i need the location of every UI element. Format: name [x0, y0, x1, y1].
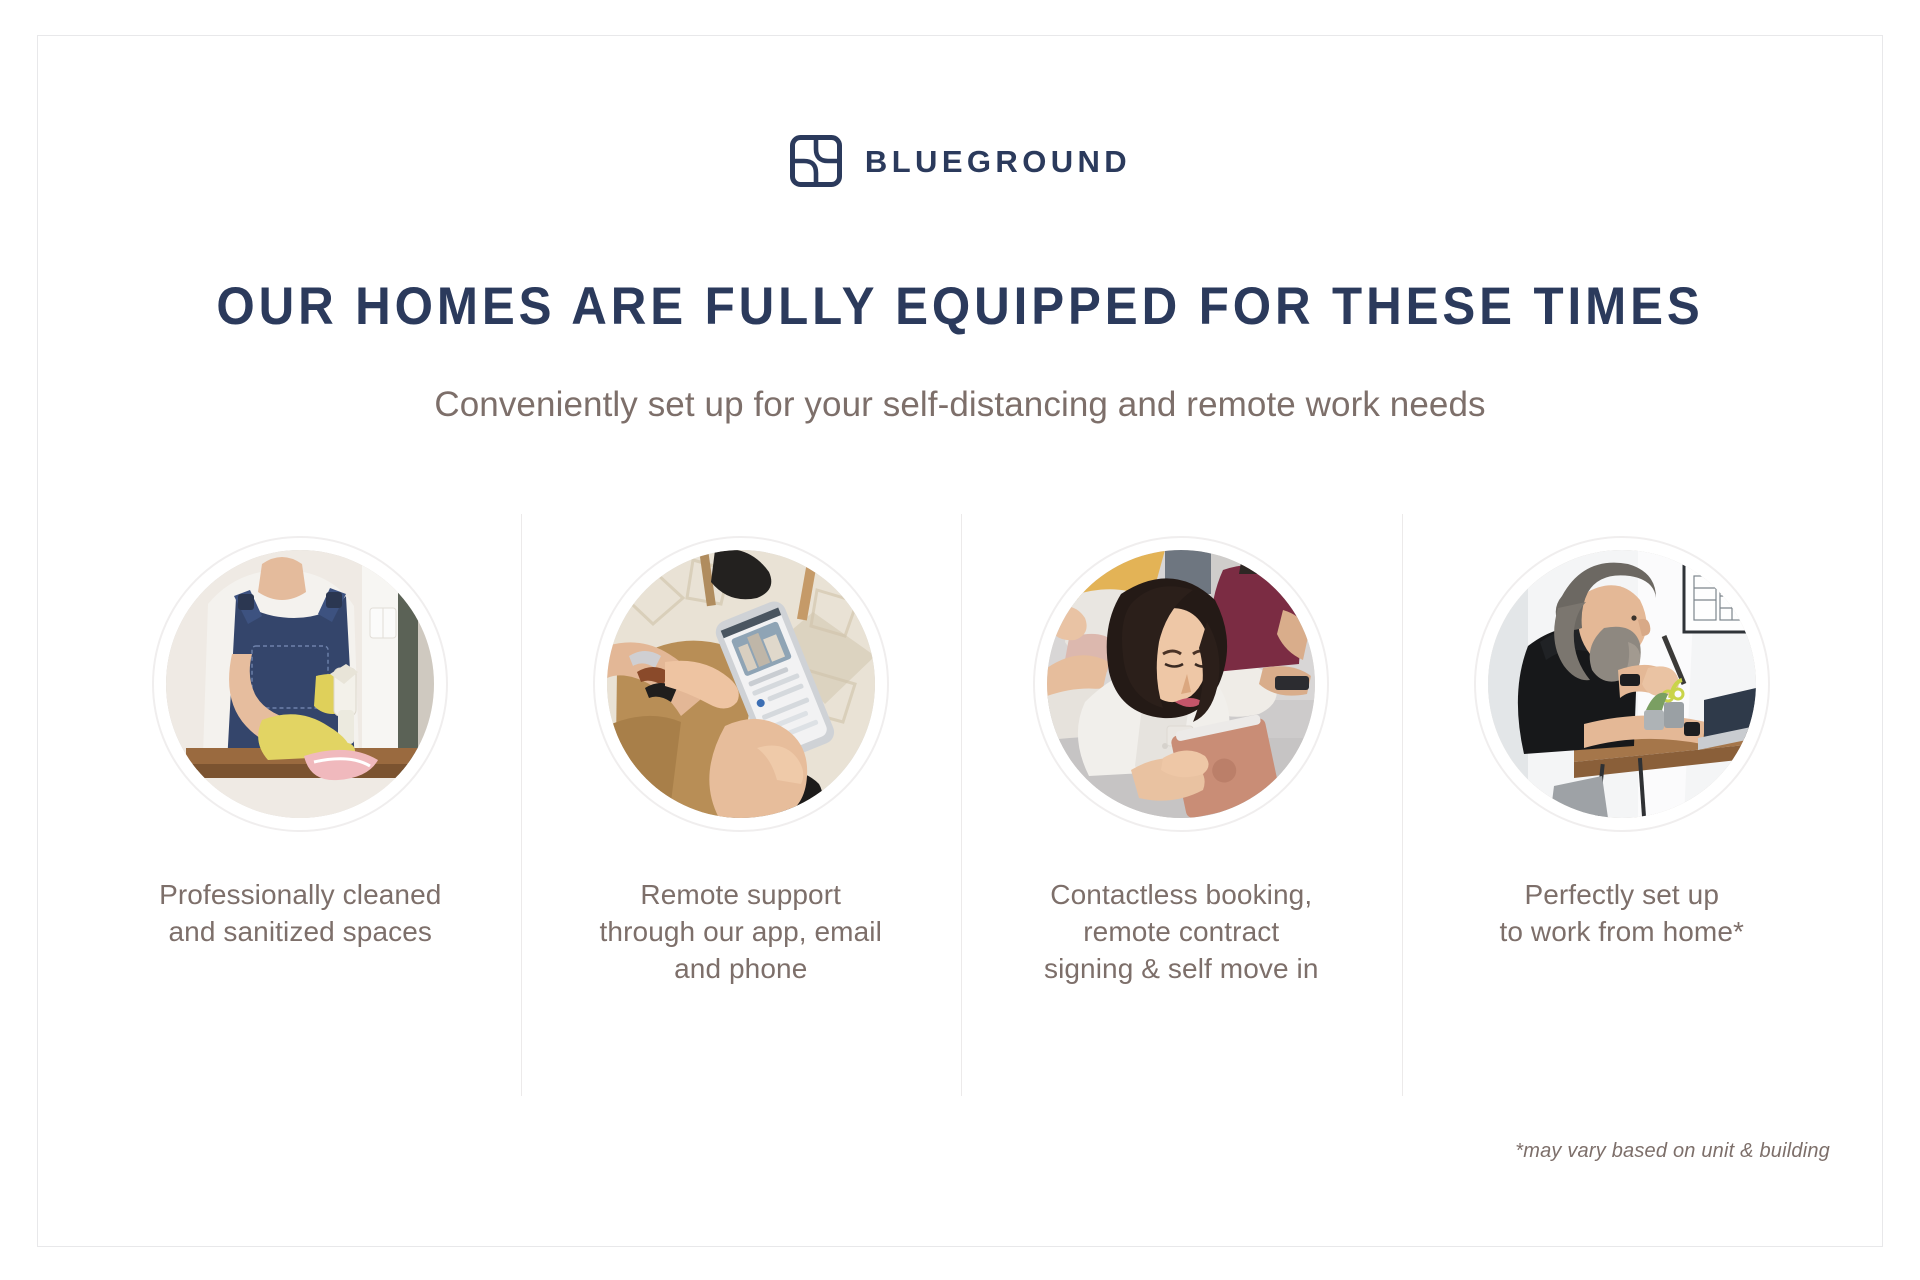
poster-frame: BLUEGROUND OUR HOMES ARE FULLY EQUIPPED …: [37, 35, 1883, 1247]
feature-caption: Remote support through our app, email an…: [600, 876, 882, 988]
photo-phone-support: [607, 550, 875, 818]
photo-ring: [1474, 536, 1770, 832]
photo-ring: [152, 536, 448, 832]
photo-tablet-booking: [1047, 550, 1315, 818]
photo-work-from-home: [1488, 550, 1756, 818]
feature-caption: Professionally cleaned and sanitized spa…: [159, 876, 441, 950]
photo-ring: [1033, 536, 1329, 832]
page-subtitle: Conveniently set up for your self-distan…: [38, 384, 1882, 426]
blueground-logo-icon: [789, 134, 843, 188]
feature-item-contactless-booking: Contactless booking, remote contract sig…: [961, 514, 1402, 1096]
photo-cleaning-person: [166, 550, 434, 818]
feature-grid: Professionally cleaned and sanitized spa…: [80, 514, 1842, 1096]
feature-caption: Perfectly set up to work from home*: [1499, 876, 1744, 950]
feature-item-work-from-home: Perfectly set up to work from home*: [1402, 514, 1843, 1096]
brand-name: BLUEGROUND: [865, 146, 1131, 177]
page-title: OUR HOMES ARE FULLY EQUIPPED FOR THESE T…: [103, 278, 1818, 335]
footnote-disclaimer: *may vary based on unit & building: [1515, 1140, 1830, 1163]
brand-lockup: BLUEGROUND: [38, 134, 1882, 188]
feature-item-remote-support: Remote support through our app, email an…: [521, 514, 962, 1096]
feature-caption: Contactless booking, remote contract sig…: [1044, 876, 1319, 988]
photo-ring: [593, 536, 889, 832]
feature-item-cleaning: Professionally cleaned and sanitized spa…: [80, 514, 521, 1096]
